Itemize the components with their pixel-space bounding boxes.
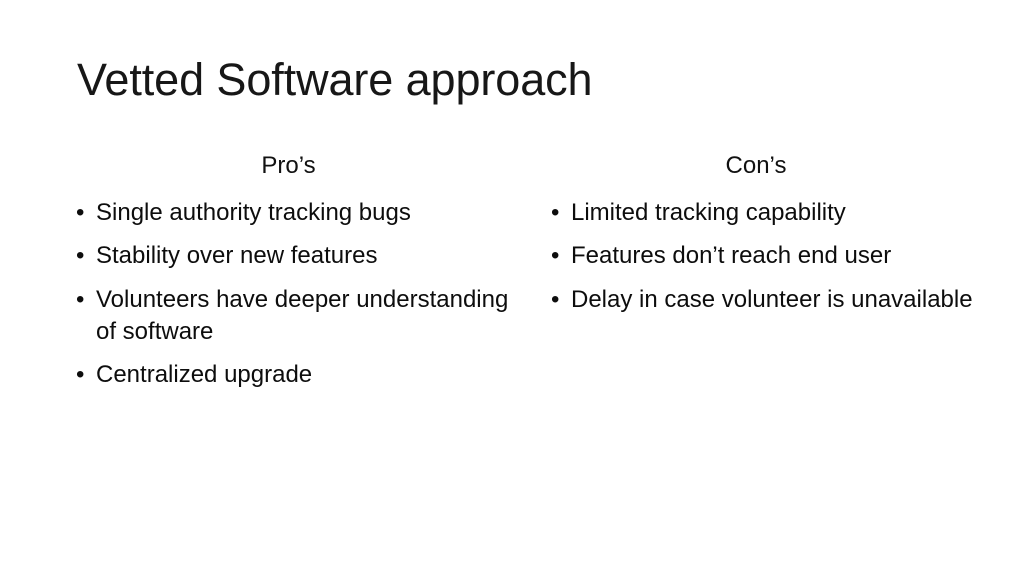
pros-column-heading: Pro’s xyxy=(70,152,525,181)
bullet-icon: • xyxy=(551,240,559,272)
list-item-label: Stability over new features xyxy=(96,240,525,272)
bullet-icon: • xyxy=(76,284,84,316)
list-item-label: Centralized upgrade xyxy=(96,359,525,391)
list-item-label: Limited tracking capability xyxy=(571,197,975,229)
bullet-icon: • xyxy=(76,240,84,272)
bullet-icon: • xyxy=(76,197,84,229)
list-item-label: Volunteers have deeper understanding of … xyxy=(96,284,525,349)
list-item-label: Features don’t reach end user xyxy=(571,240,975,272)
list-item: • Centralized upgrade xyxy=(70,359,525,391)
list-item: • Stability over new features xyxy=(70,240,525,272)
presentation-slide: Vetted Software approach Pro’s • Single … xyxy=(0,0,1024,576)
cons-bullet-list: • Limited tracking capability • Features… xyxy=(545,197,975,316)
two-column-body: Pro’s • Single authority tracking bugs •… xyxy=(0,152,1024,392)
list-item: • Delay in case volunteer is unavailable xyxy=(545,284,975,316)
bullet-icon: • xyxy=(551,197,559,229)
list-item: • Volunteers have deeper understanding o… xyxy=(70,284,525,349)
cons-column: Con’s • Limited tracking capability • Fe… xyxy=(545,152,975,316)
bullet-icon: • xyxy=(551,284,559,316)
pros-bullet-list: • Single authority tracking bugs • Stabi… xyxy=(70,197,525,392)
cons-column-heading: Con’s xyxy=(545,152,975,181)
pros-column: Pro’s • Single authority tracking bugs •… xyxy=(70,152,525,392)
list-item: • Single authority tracking bugs xyxy=(70,197,525,229)
list-item-label: Single authority tracking bugs xyxy=(96,197,525,229)
list-item-label: Delay in case volunteer is unavailable xyxy=(571,284,975,316)
list-item: • Features don’t reach end user xyxy=(545,240,975,272)
page-title: Vetted Software approach xyxy=(77,56,957,104)
bullet-icon: • xyxy=(76,359,84,391)
list-item: • Limited tracking capability xyxy=(545,197,975,229)
